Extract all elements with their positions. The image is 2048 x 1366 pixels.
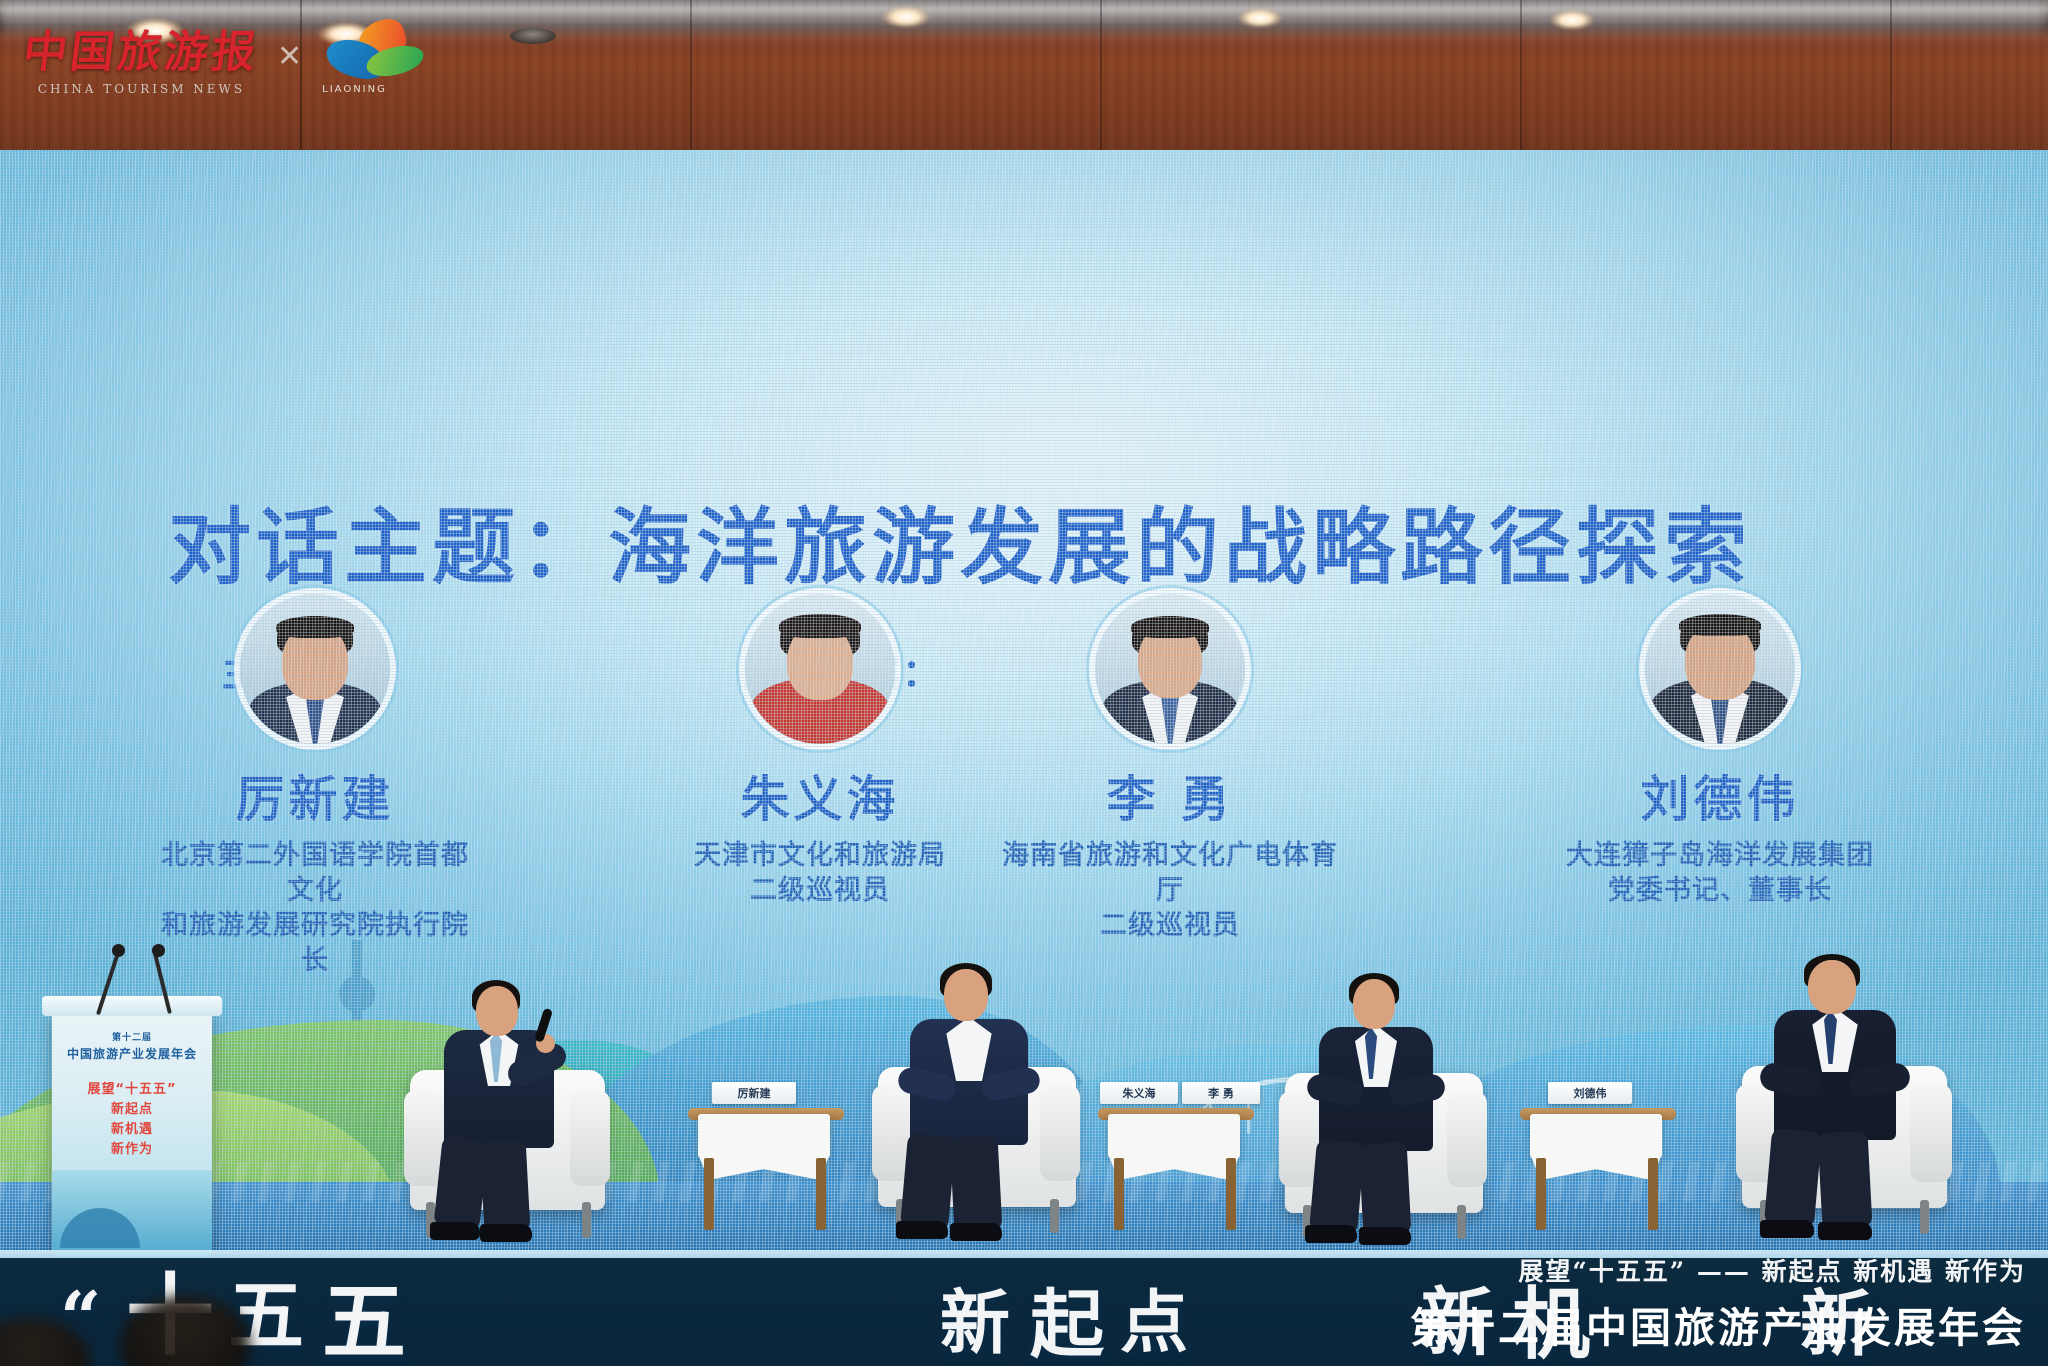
banner-slogan-line: 展望“十五五” —— 新起点 新机遇 新作为 [1410,1252,2026,1288]
speaker-1-shoe-left [430,1222,480,1240]
speaking-podium: 第十二届 中国旅游产业发展年会 展望“十五五” 新起点 新机遇 新作为 [52,1008,212,1258]
broadcast-watermark: 中国旅游报 CHINA TOURISM NEWS ✕ LIAONING [24,16,438,96]
speaker-3-shoe-right [1359,1227,1411,1245]
speaker-4-head [1808,960,1856,1014]
banner-script-char-3: 五 [322,1255,406,1366]
stage-seat-1 [410,960,620,1250]
armchair-3-arm-left [1279,1091,1319,1187]
publication-name-en: CHINA TOURISM NEWS [24,82,259,96]
speaker-1-head [476,986,518,1036]
banner-script-char-7: 点 [1120,1267,1188,1366]
speaker-4-shoe-right [1818,1222,1872,1240]
publication-name-cn: 中国旅游报 [20,16,263,80]
speaker-2-shoe-right [950,1223,1002,1241]
nameplate-1: 厉新建 [712,1082,796,1104]
podium-slogan: 展望“十五五” 新起点 新机遇 新作为 [52,1080,212,1161]
podium-slogan-3: 新作为 [52,1140,212,1160]
podium-slogan-0: 展望“十五五” [52,1080,212,1100]
podium-slogan-2: 新机遇 [52,1120,212,1140]
speaker-3-leg-left [1309,1139,1365,1235]
liaoning-tourism-logo: LIAONING [320,19,438,93]
speaker-3-leg-right [1359,1142,1412,1236]
podium-slogan-1: 新起点 [52,1100,212,1120]
stage-seat-4 [1742,940,1967,1255]
ceiling-light-3 [882,6,930,28]
speaker-2-leg-left [900,1133,956,1231]
podium-logo-line1: 第十二届 [52,1030,212,1043]
table-2-cloth [1108,1114,1240,1158]
armchair-4-arm-right [1910,1084,1952,1182]
speaker-4-leg-right [1818,1131,1873,1229]
speaker-2-head [944,969,988,1021]
table-3-cloth [1530,1114,1662,1158]
nameplate-3: 李 勇 [1182,1082,1260,1104]
speaker-4-leg-left [1764,1128,1822,1228]
side-table-3: 刘德伟 [1520,1100,1680,1260]
podium-mic-head-right [152,944,165,957]
speaker-3-head [1353,979,1395,1029]
stage-seat-2 [878,945,1093,1250]
banner-script-char-5: 新 [940,1267,1010,1366]
stage-seat-3 [1285,955,1500,1255]
nameplate-2: 朱义海 [1100,1082,1178,1104]
ceiling-speaker-dome [510,28,556,44]
speaker-1-shoe-right [480,1224,532,1242]
podium-logo: 第十二届 中国旅游产业发展年会 [52,1030,212,1062]
speaker-2-leg-right [950,1136,1003,1232]
speaker-4-shoe-left [1760,1220,1814,1238]
ceiling-light-4 [1238,8,1282,28]
banner-event-name: 第十二届中国旅游产业发展年会 [1410,1294,2026,1354]
china-tourism-news-logo: 中国旅游报 CHINA TOURISM NEWS [24,16,259,96]
podium-logo-line2: 中国旅游产业发展年会 [52,1045,212,1062]
armchair-3-arm-right [1447,1091,1487,1187]
side-table-1: 厉新建 [688,1100,848,1260]
speaker-1-leg-right [480,1139,531,1233]
collab-cross-icon: ✕ [277,39,302,74]
side-table-2: 朱义海 李 勇 [1098,1100,1258,1260]
table-1-cloth [698,1114,830,1158]
podium-top-surface [42,996,222,1016]
ceiling-light-5 [1550,10,1594,30]
banner-script-char-6: 起 [1030,1265,1104,1366]
podium-mic-head-left [112,944,125,957]
speaker-2-shoe-left [896,1221,948,1239]
partner-name-en: LIAONING [322,84,387,95]
conference-stage-photo: 中国旅游报 CHINA TOURISM NEWS ✕ LIAONING [0,0,2048,1366]
armchair-2-arm-right [1040,1085,1080,1181]
nameplate-4: 刘德伟 [1548,1082,1632,1104]
armchair-1-arm-right [570,1090,610,1186]
banner-event-identity: 展望“十五五” —— 新起点 新机遇 新作为 第十二届中国旅游产业发展年会 [1410,1252,2026,1354]
speaker-3-shoe-left [1305,1225,1357,1243]
